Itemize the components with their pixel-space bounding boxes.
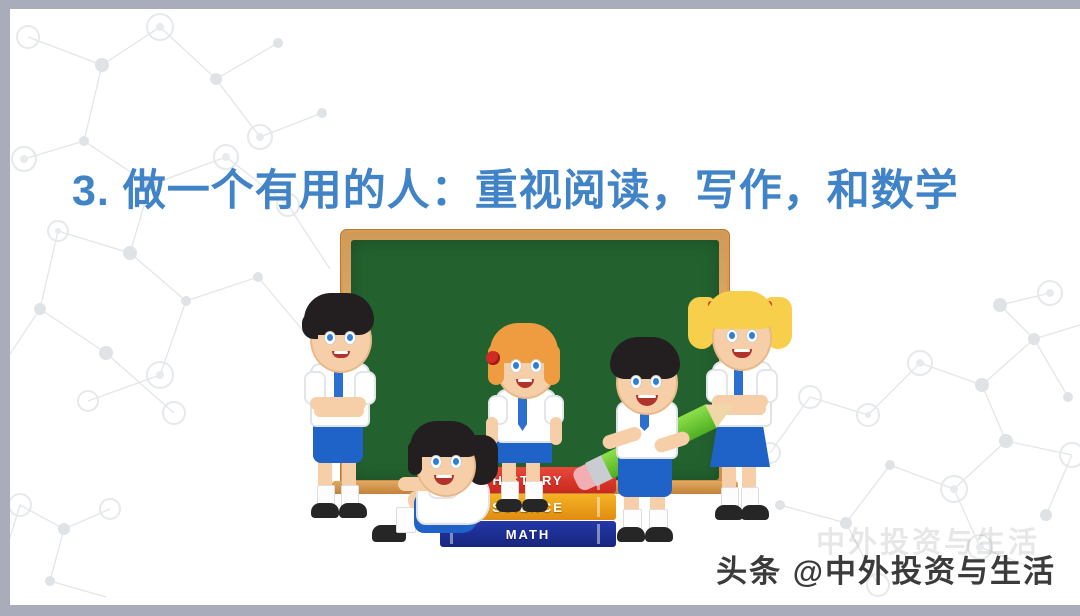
watermark: 头条 @中外投资与生活 (716, 546, 1056, 591)
frame-bar-top (0, 0, 1080, 9)
book-label: MATH (506, 527, 551, 542)
flower-hair-clip (486, 351, 500, 365)
slide-root: 3. 做一个有用的人：重视阅读，写作，和数学 (0, 0, 1080, 616)
frame-bar-left (0, 0, 10, 616)
slide-canvas: 3. 做一个有用的人：重视阅读，写作，和数学 (10, 9, 1080, 605)
classroom-illustration: HISTORY SCIENCE MATH (280, 219, 820, 591)
child-girl-right-blonde (688, 275, 788, 531)
network-pattern-bottom-left (10, 485, 130, 605)
child-girl-sitting (372, 419, 502, 555)
page-title: 3. 做一个有用的人：重视阅读，写作，和数学 (72, 167, 1052, 216)
frame-bar-bottom (0, 605, 1080, 616)
child-boy-with-pencil (598, 357, 698, 557)
